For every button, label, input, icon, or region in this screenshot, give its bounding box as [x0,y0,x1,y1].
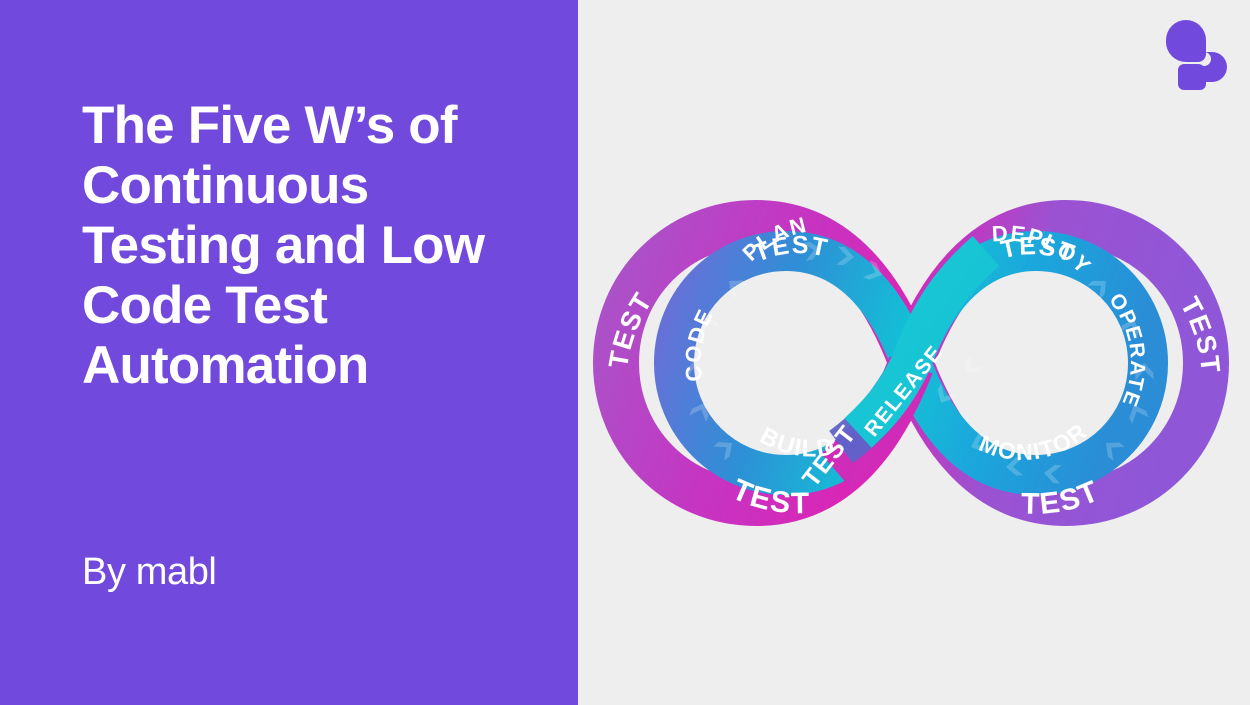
title-panel: The Five W’s of Continuous Testing and L… [0,0,578,705]
page-title: The Five W’s of Continuous Testing and L… [82,96,532,396]
byline: By mabl [82,551,216,594]
slide-root: The Five W’s of Continuous Testing and L… [0,0,1250,705]
mabl-logo-icon [1164,18,1228,90]
devops-infinity-diagram: TEST TEST TEST TEST TEST TEST TEST PLA [586,185,1236,535]
illustration-panel: TEST TEST TEST TEST TEST TEST TEST PLA [578,0,1250,705]
